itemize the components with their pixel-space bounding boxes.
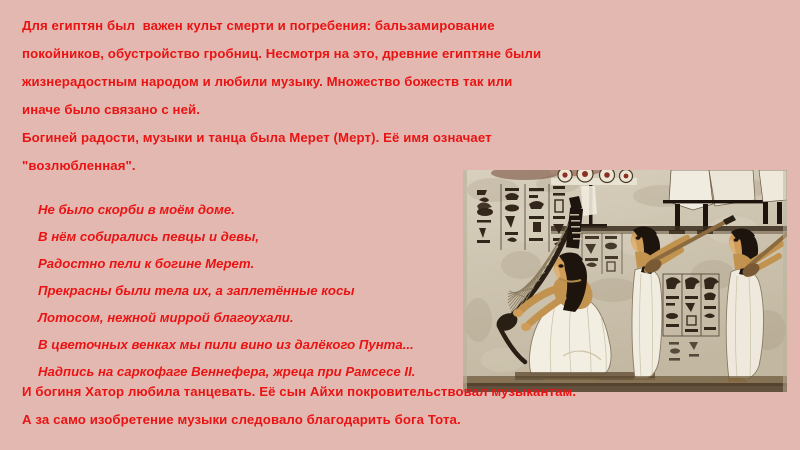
poem-line: Не было скорби в моём доме. [38,196,458,223]
tomb-painting-illustration [463,170,787,392]
poem-line: Прекрасны были тела их, а заплетённые ко… [38,277,458,304]
poem-line: Радостно пели к богине Мерет. [38,250,458,277]
poem-line: В цветочных венках мы пили вино из далёк… [38,331,458,358]
slide-canvas: Для египтян был важен культ смерти и пог… [0,0,800,450]
upper-left-leg-fragment [581,186,597,216]
intro-paragraph: Для египтян был важен культ смерти и пог… [22,12,552,124]
hathor-paragraph: И богиня Хатор любила танцевать. Её сын … [22,378,582,434]
poem-line: Лотосом, нежной миррой благоухали. [38,304,458,331]
egyptian-tomb-painting-image [463,170,787,392]
poem-line: В нём собирались певцы и девы, [38,223,458,250]
poem-block: Не было скорби в моём доме. В нём собира… [38,196,458,385]
